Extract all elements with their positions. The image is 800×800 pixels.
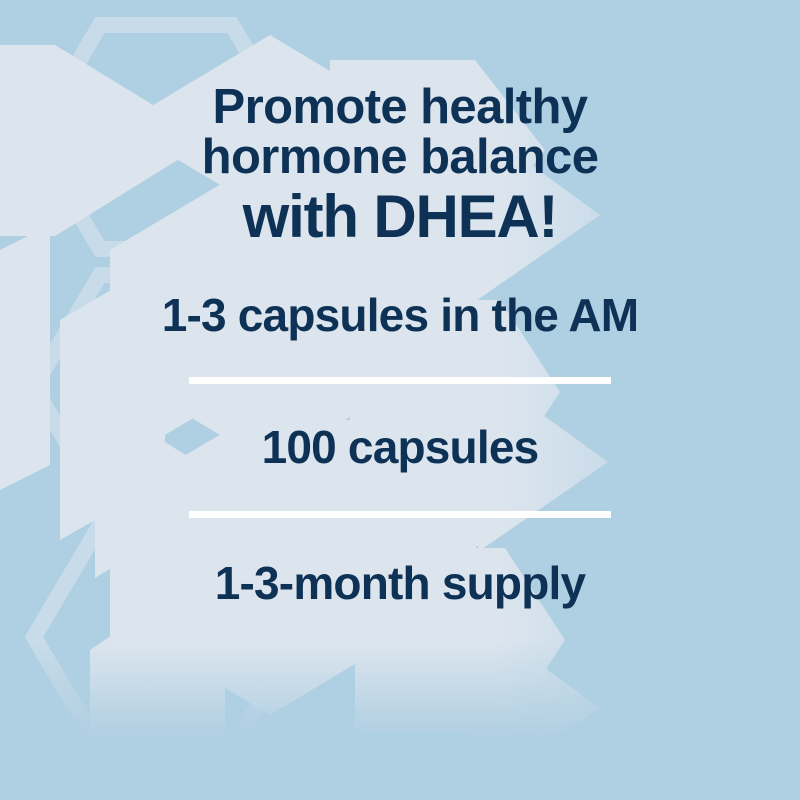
divider-2 (189, 511, 611, 518)
fact-dosage: 1-3 capsules in the AM (0, 290, 800, 341)
fact-count: 100 capsules (0, 422, 800, 473)
headline-line-1: Promote healthy (0, 82, 800, 132)
headline-block: Promote healthy hormone balance with DHE… (0, 82, 800, 248)
poster-content: Promote healthy hormone balance with DHE… (0, 0, 800, 800)
divider-1 (189, 377, 611, 384)
fact-supply-duration: 1-3-month supply (0, 558, 800, 609)
promotional-poster: Promote healthy hormone balance with DHE… (0, 0, 800, 800)
headline-emphasis: with DHEA! (0, 186, 800, 248)
headline-line-2: hormone balance (0, 132, 800, 182)
